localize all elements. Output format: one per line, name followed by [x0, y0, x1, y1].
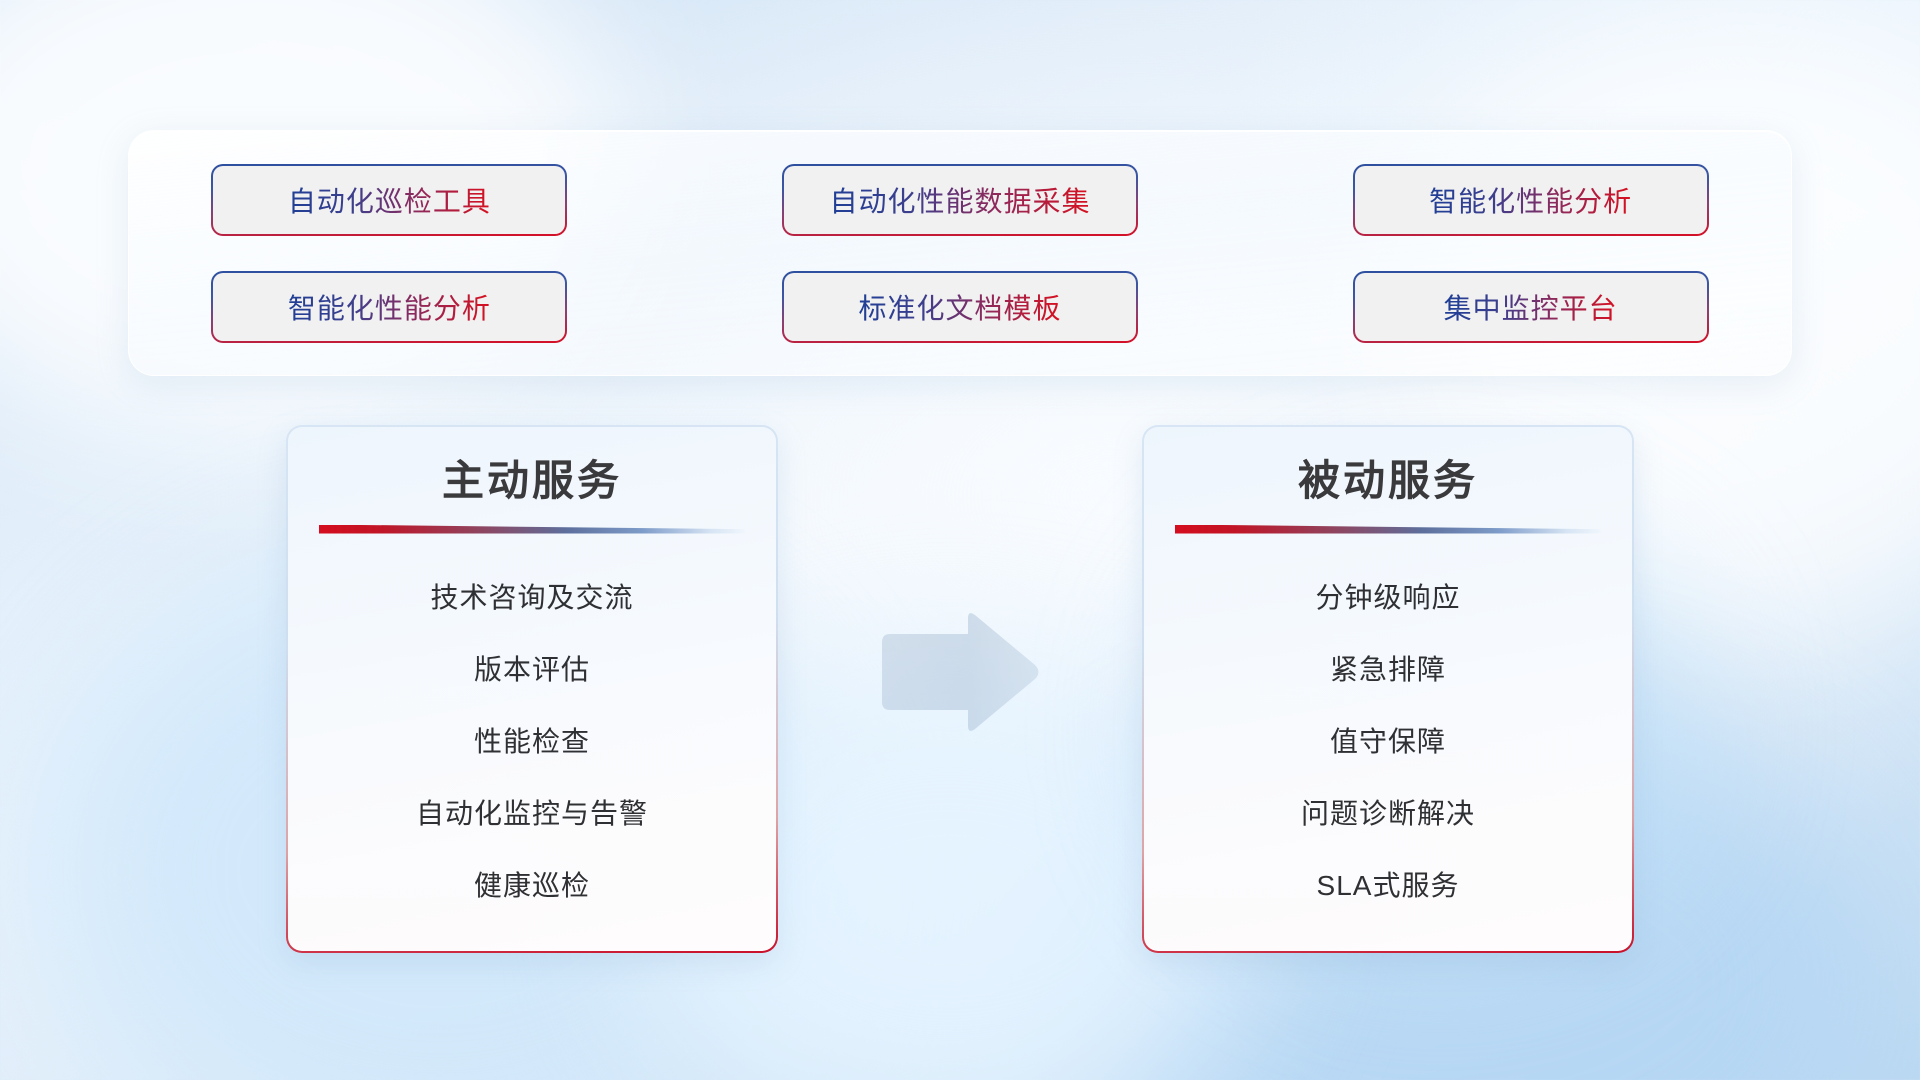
arrow-right-icon: [872, 608, 1042, 736]
capability-pill-surface: 集中监控平台: [1355, 273, 1707, 341]
service-list-item: 健康巡检: [474, 850, 590, 922]
capability-pill-label: 自动化巡检工具: [288, 180, 491, 220]
service-card-title: 主动服务: [442, 455, 622, 508]
capability-pill[interactable]: 智能化性能分析: [211, 271, 567, 343]
service-list-item: 问题诊断解决: [1301, 778, 1475, 850]
service-list-item: 值守保障: [1330, 706, 1446, 778]
capability-pill-label: 智能化性能分析: [1429, 180, 1632, 220]
service-list-item: SLA式服务: [1317, 850, 1460, 922]
service-list-item: 自动化监控与告警: [416, 778, 648, 850]
title-divider: [319, 522, 745, 536]
capability-pill-label: 自动化性能数据采集: [829, 180, 1090, 220]
service-card-surface: 被动服务 分钟级响应 紧急排障 值守保障 问题诊断解决 SLA式服务: [1144, 427, 1632, 951]
capability-pill[interactable]: 集中监控平台: [1353, 271, 1709, 343]
capabilities-panel: 自动化巡检工具 自动化性能数据采集 智能化性能分析 智能化性能分析: [128, 130, 1792, 376]
service-list-item: 性能检查: [474, 706, 590, 778]
capability-pill-surface: 智能化性能分析: [1355, 166, 1707, 234]
capability-pill[interactable]: 自动化性能数据采集: [782, 164, 1138, 236]
service-list-item: 技术咨询及交流: [430, 562, 633, 634]
capability-pill-surface: 自动化性能数据采集: [784, 166, 1136, 234]
capability-pill-surface: 智能化性能分析: [213, 273, 565, 341]
service-card-surface: 主动服务 技术咨询及交流 版本评估 性能检查 自动化监控与告警 健康巡检: [288, 427, 776, 951]
capability-pill-grid: 自动化巡检工具 自动化性能数据采集 智能化性能分析 智能化性能分析: [199, 159, 1721, 347]
capability-pill-surface: 标准化文档模板: [784, 273, 1136, 341]
capability-pill[interactable]: 自动化巡检工具: [211, 164, 567, 236]
capability-pill-surface: 自动化巡检工具: [213, 166, 565, 234]
title-divider: [1175, 522, 1601, 536]
service-list-item: 版本评估: [474, 634, 590, 706]
capability-pill-label: 智能化性能分析: [288, 287, 491, 327]
capability-pill-label: 集中监控平台: [1444, 287, 1618, 327]
title-divider-bar: [1175, 525, 1601, 534]
title-divider-bar: [319, 525, 745, 534]
capability-pill[interactable]: 标准化文档模板: [782, 271, 1138, 343]
service-card-proactive[interactable]: 主动服务 技术咨询及交流 版本评估 性能检查 自动化监控与告警 健康巡检: [286, 425, 778, 953]
capability-pill[interactable]: 智能化性能分析: [1353, 164, 1709, 236]
infographic-stage: 自动化巡检工具 自动化性能数据采集 智能化性能分析 智能化性能分析: [0, 0, 1920, 1080]
service-card-reactive[interactable]: 被动服务 分钟级响应 紧急排障 值守保障 问题诊断解决 SLA式服务: [1142, 425, 1634, 953]
service-list-item: 分钟级响应: [1315, 562, 1460, 634]
service-item-list: 分钟级响应 紧急排障 值守保障 问题诊断解决 SLA式服务: [1144, 562, 1632, 922]
capability-pill-label: 标准化文档模板: [858, 287, 1061, 327]
service-list-item: 紧急排障: [1330, 634, 1446, 706]
service-item-list: 技术咨询及交流 版本评估 性能检查 自动化监控与告警 健康巡检: [288, 562, 776, 922]
service-card-title: 被动服务: [1298, 455, 1478, 508]
